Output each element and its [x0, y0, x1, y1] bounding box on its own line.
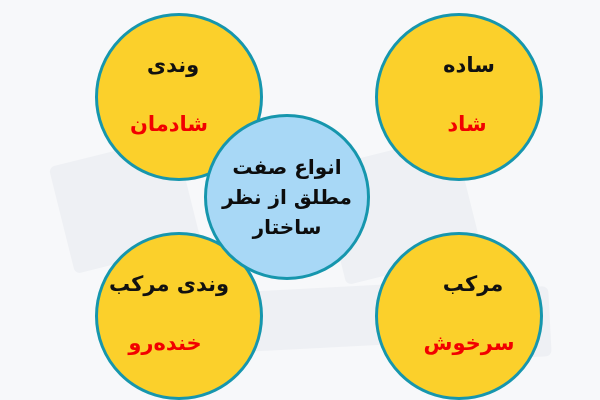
center-node[interactable]: انواع صفت مطلق از نظر ساختار [204, 114, 370, 280]
center-node-label: انواع صفت مطلق از نظر ساختار [212, 152, 362, 242]
center-line-1: انواع صفت [222, 152, 352, 182]
center-line-2: مطلق از نظر [222, 182, 352, 212]
node-sadeh-label: ساده [443, 54, 495, 77]
node-vandi-morakab-example: خنده‌رو [128, 332, 201, 355]
center-line-3: ساختار [222, 212, 352, 242]
node-vandi-morakab-label: وندی مرکب [109, 273, 229, 296]
node-vandi-label: وندی [147, 54, 199, 77]
node-sadeh-example: شاد [447, 113, 486, 136]
node-sadeh[interactable]: ساده شاد [375, 13, 543, 181]
node-vandi-example: شادمان [130, 113, 208, 136]
node-morakab-example: سرخوش [424, 332, 515, 355]
node-morakab[interactable]: مرکب سرخوش [375, 232, 543, 400]
node-morakab-label: مرکب [443, 273, 504, 296]
concept-diagram: وندی شادمان ساده شاد وندی مرکب خنده‌رو م… [0, 0, 600, 400]
